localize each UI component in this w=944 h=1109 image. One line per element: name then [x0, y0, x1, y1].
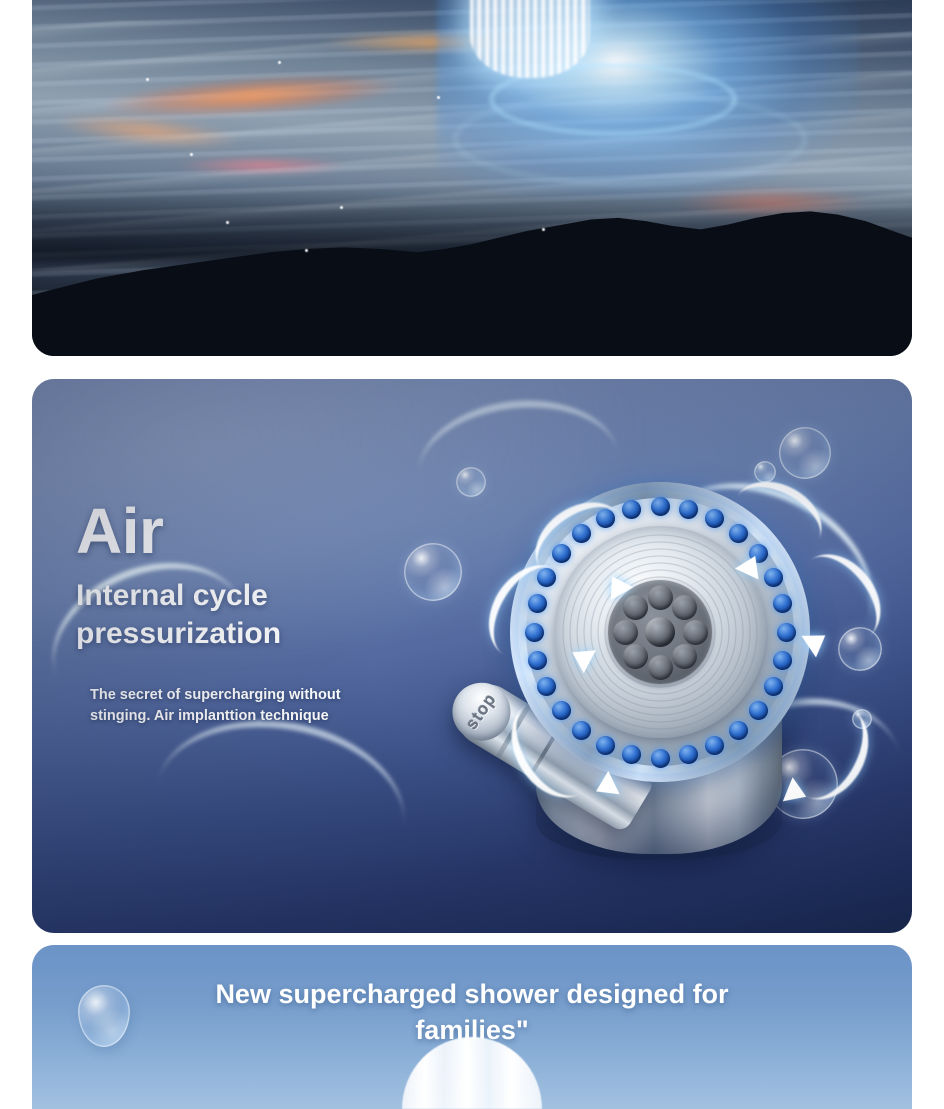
- product-detail-page: Air Internal cycle pressurization The se…: [0, 0, 944, 1109]
- bottom-tagline-banner: New supercharged shower designed for fam…: [32, 945, 912, 1109]
- hero-water-scene-panel: [32, 0, 912, 356]
- banner-headline-line-1: New supercharged shower designed for: [122, 977, 822, 1013]
- air-feature-panel: Air Internal cycle pressurization The se…: [32, 379, 912, 933]
- water-sparkles: [32, 0, 912, 356]
- panel-vignette: [32, 379, 912, 933]
